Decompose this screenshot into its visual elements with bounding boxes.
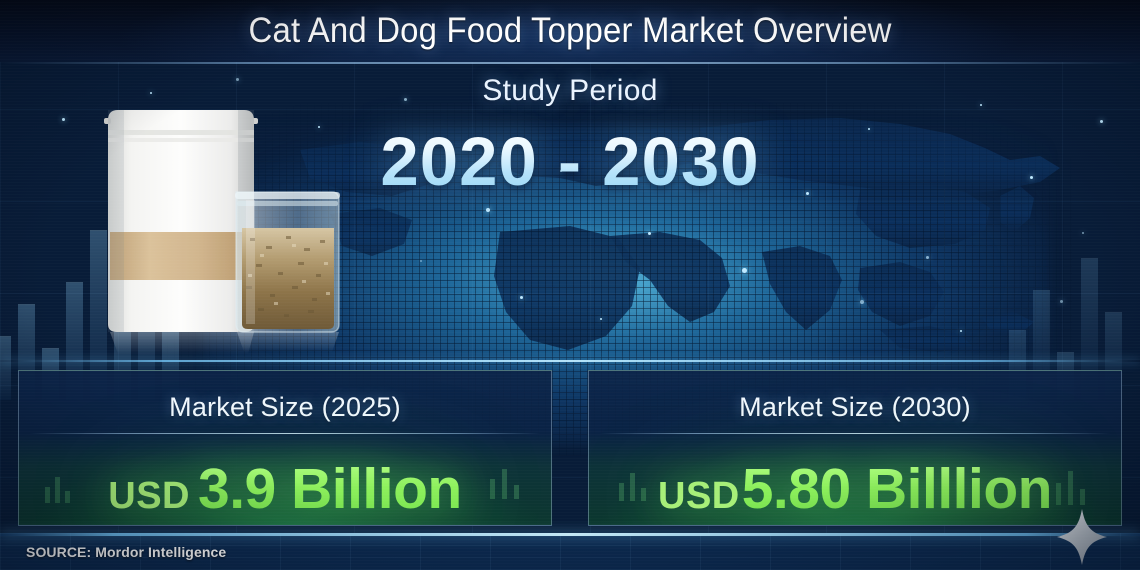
card-label-2025: Market Size (2025) xyxy=(169,392,401,423)
card-rule xyxy=(30,433,541,434)
infographic-root: Cat And Dog Food Topper Market Overview … xyxy=(0,0,1140,570)
card-value-2030: USD 5.80 Billlion xyxy=(658,456,1052,522)
card-value-2025: USD 3.9 Billion xyxy=(108,456,461,522)
market-size-cards: Market Size (2025) USD 3.9 Billion Marke… xyxy=(0,366,1140,532)
amount-label-2025: 3.9 Billion xyxy=(198,456,462,522)
card-label-2030: Market Size (2030) xyxy=(739,392,971,423)
currency-label-2030: USD xyxy=(658,475,740,518)
study-period-label: Study Period xyxy=(0,74,1140,108)
source-credit: SOURCE: Mordor Intelligence xyxy=(26,544,226,560)
amount-label-2030: 5.80 Billlion xyxy=(742,456,1052,522)
cards-top-divider xyxy=(0,360,1140,362)
card-rule xyxy=(600,433,1111,434)
header-bar: Cat And Dog Food Topper Market Overview xyxy=(0,0,1140,62)
currency-label-2025: USD xyxy=(108,475,190,518)
market-size-card-2030: Market Size (2030) USD 5.80 Billlion xyxy=(588,370,1122,526)
header-divider xyxy=(0,62,1140,64)
footer-bar: SOURCE: Mordor Intelligence xyxy=(0,533,1140,570)
study-period-years: 2020 - 2030 xyxy=(0,122,1140,201)
footer-divider xyxy=(0,533,1140,536)
study-period-block: Study Period 2020 - 2030 xyxy=(0,74,1140,201)
page-title: Cat And Dog Food Topper Market Overview xyxy=(248,11,891,51)
diamond-star-icon xyxy=(1056,508,1108,566)
market-size-card-2025: Market Size (2025) USD 3.9 Billion xyxy=(18,370,552,526)
